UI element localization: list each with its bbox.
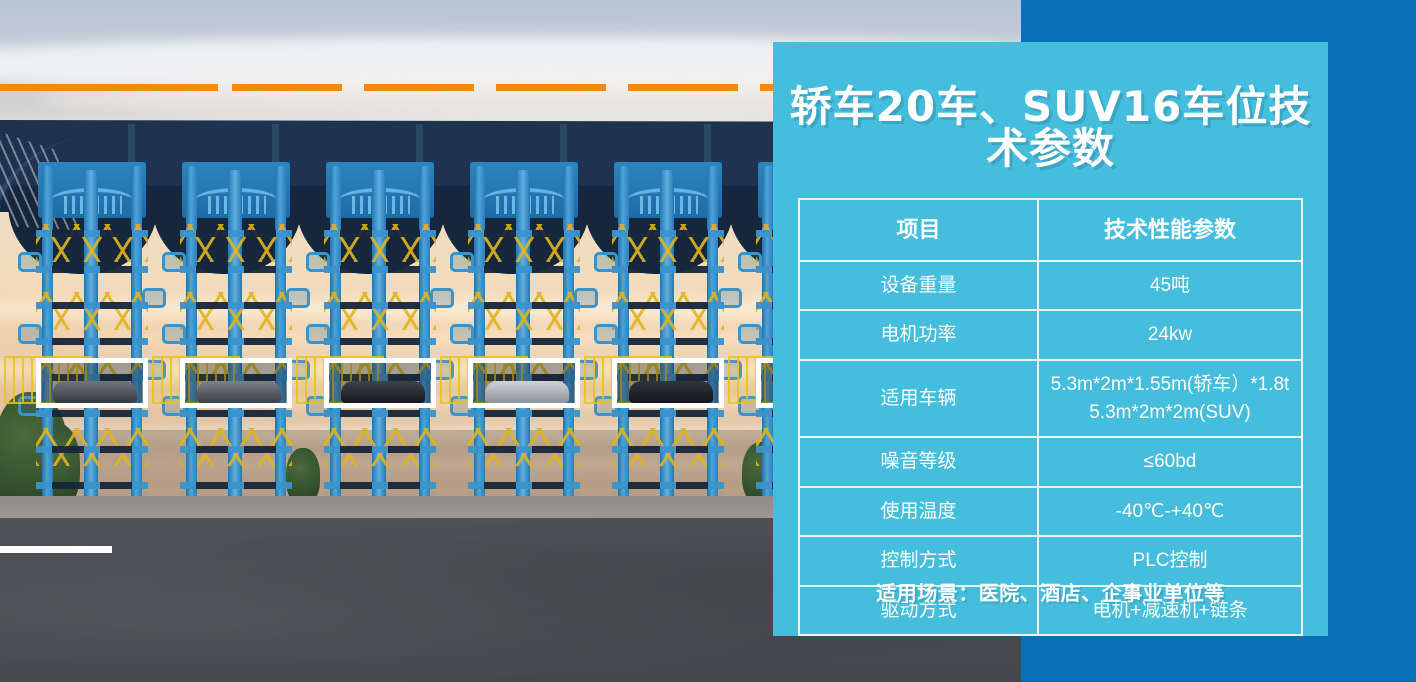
row-item-label: 噪音等级 bbox=[799, 437, 1038, 487]
car-platform bbox=[180, 338, 292, 345]
car-platform bbox=[468, 410, 580, 417]
spec-table: 项目 技术性能参数 设备重量 45吨 电机功率 24kw 适用车辆 5.3m*2… bbox=[798, 198, 1303, 636]
table-row: 噪音等级 ≤60bd bbox=[799, 437, 1302, 487]
column-header-value: 技术性能参数 bbox=[1038, 199, 1302, 261]
car-platform bbox=[324, 482, 436, 489]
lane-marking bbox=[232, 84, 342, 91]
row-item-value: 5.3m*2m*1.55m(轿车）*1.8t 5.3m*2m*2m(SUV) bbox=[1038, 360, 1302, 437]
entry-bay bbox=[180, 358, 292, 408]
tower-brace bbox=[324, 292, 436, 330]
entry-bay bbox=[468, 358, 580, 408]
tower-brace bbox=[468, 292, 580, 330]
tower-pod bbox=[18, 324, 42, 344]
tower-pod bbox=[594, 324, 618, 344]
car-platform bbox=[180, 230, 292, 237]
lane-marking bbox=[108, 84, 218, 91]
car-platform bbox=[612, 302, 724, 309]
tower-pod bbox=[306, 324, 330, 344]
table-row: 使用温度 -40℃-+40℃ bbox=[799, 487, 1302, 537]
lane-marking bbox=[628, 84, 738, 91]
parking-tower bbox=[612, 166, 724, 498]
tower-pod bbox=[430, 288, 454, 308]
car-platform bbox=[612, 338, 724, 345]
car-platform bbox=[468, 446, 580, 453]
tower-pod bbox=[18, 252, 42, 272]
lane-marking bbox=[0, 84, 110, 91]
car-platform bbox=[36, 338, 148, 345]
parking-tower bbox=[180, 166, 292, 498]
lane-marking bbox=[496, 84, 606, 91]
tower-pod bbox=[594, 252, 618, 272]
page-title: 轿车20车、SUV16车位技术参数 bbox=[773, 86, 1328, 170]
spec-card: 轿车20车、SUV16车位技术参数 项目 技术性能参数 设备重量 45吨 电机功… bbox=[773, 42, 1328, 636]
table-row: 电机功率 24kw bbox=[799, 310, 1302, 360]
car-platform bbox=[612, 482, 724, 489]
car-platform bbox=[612, 266, 724, 273]
tower-pod bbox=[738, 252, 762, 272]
car-platform bbox=[180, 266, 292, 273]
tower-pod bbox=[286, 288, 310, 308]
car-platform bbox=[612, 446, 724, 453]
car-platform bbox=[612, 410, 724, 417]
row-item-label: 适用车辆 bbox=[799, 360, 1038, 437]
tower-pod bbox=[142, 288, 166, 308]
car bbox=[485, 381, 569, 403]
car-platform bbox=[468, 482, 580, 489]
tower-pod bbox=[162, 252, 186, 272]
tower-brace bbox=[612, 292, 724, 330]
car bbox=[341, 381, 425, 403]
car-platform bbox=[180, 446, 292, 453]
car-platform bbox=[36, 266, 148, 273]
tower-pod bbox=[306, 252, 330, 272]
row-item-value: 45吨 bbox=[1038, 261, 1302, 311]
car bbox=[197, 381, 281, 403]
car-platform bbox=[324, 302, 436, 309]
tower-pod bbox=[162, 324, 186, 344]
table-row: 设备重量 45吨 bbox=[799, 261, 1302, 311]
tower-pod bbox=[450, 324, 474, 344]
column-header-item: 项目 bbox=[799, 199, 1038, 261]
entry-bay bbox=[324, 358, 436, 408]
car-platform bbox=[468, 230, 580, 237]
car-platform bbox=[324, 410, 436, 417]
car-platform bbox=[36, 410, 148, 417]
row-item-label: 使用温度 bbox=[799, 487, 1038, 537]
car-platform bbox=[180, 302, 292, 309]
car bbox=[53, 381, 137, 403]
tower-brace bbox=[180, 292, 292, 330]
parking-tower bbox=[324, 166, 436, 498]
car-platform bbox=[36, 482, 148, 489]
row-item-value: 24kw bbox=[1038, 310, 1302, 360]
row-item-value: ≤60bd bbox=[1038, 437, 1302, 487]
tower-pod bbox=[574, 288, 598, 308]
parking-tower bbox=[468, 166, 580, 498]
kerb-marking bbox=[0, 546, 112, 553]
car-platform bbox=[324, 230, 436, 237]
car-platform bbox=[468, 338, 580, 345]
row-item-label: 设备重量 bbox=[799, 261, 1038, 311]
car-platform bbox=[468, 266, 580, 273]
row-item-value: -40℃-+40℃ bbox=[1038, 487, 1302, 537]
parking-tower bbox=[36, 166, 148, 498]
table-row: 适用车辆 5.3m*2m*1.55m(轿车）*1.8t 5.3m*2m*2m(S… bbox=[799, 360, 1302, 437]
car-platform bbox=[324, 446, 436, 453]
application-scenarios-note: 适用场景：医院、酒店、企事业单位等 bbox=[773, 577, 1328, 606]
tower-brace bbox=[36, 292, 148, 330]
car-platform bbox=[36, 446, 148, 453]
tower-pod bbox=[738, 324, 762, 344]
table-header-row: 项目 技术性能参数 bbox=[799, 199, 1302, 261]
car-platform bbox=[36, 302, 148, 309]
car-platform bbox=[468, 302, 580, 309]
entry-bay bbox=[612, 358, 724, 408]
tower-pod bbox=[450, 252, 474, 272]
car bbox=[629, 381, 713, 403]
car-platform bbox=[324, 338, 436, 345]
row-item-label: 电机功率 bbox=[799, 310, 1038, 360]
car-platform bbox=[324, 266, 436, 273]
car-platform bbox=[36, 230, 148, 237]
car-platform bbox=[612, 230, 724, 237]
entry-bay bbox=[36, 358, 148, 408]
poster-stage: 轿车20车、SUV16车位技术参数 项目 技术性能参数 设备重量 45吨 电机功… bbox=[0, 0, 1416, 682]
tower-pod bbox=[718, 288, 742, 308]
car-platform bbox=[180, 482, 292, 489]
car-platform bbox=[180, 410, 292, 417]
lane-marking bbox=[364, 84, 474, 91]
